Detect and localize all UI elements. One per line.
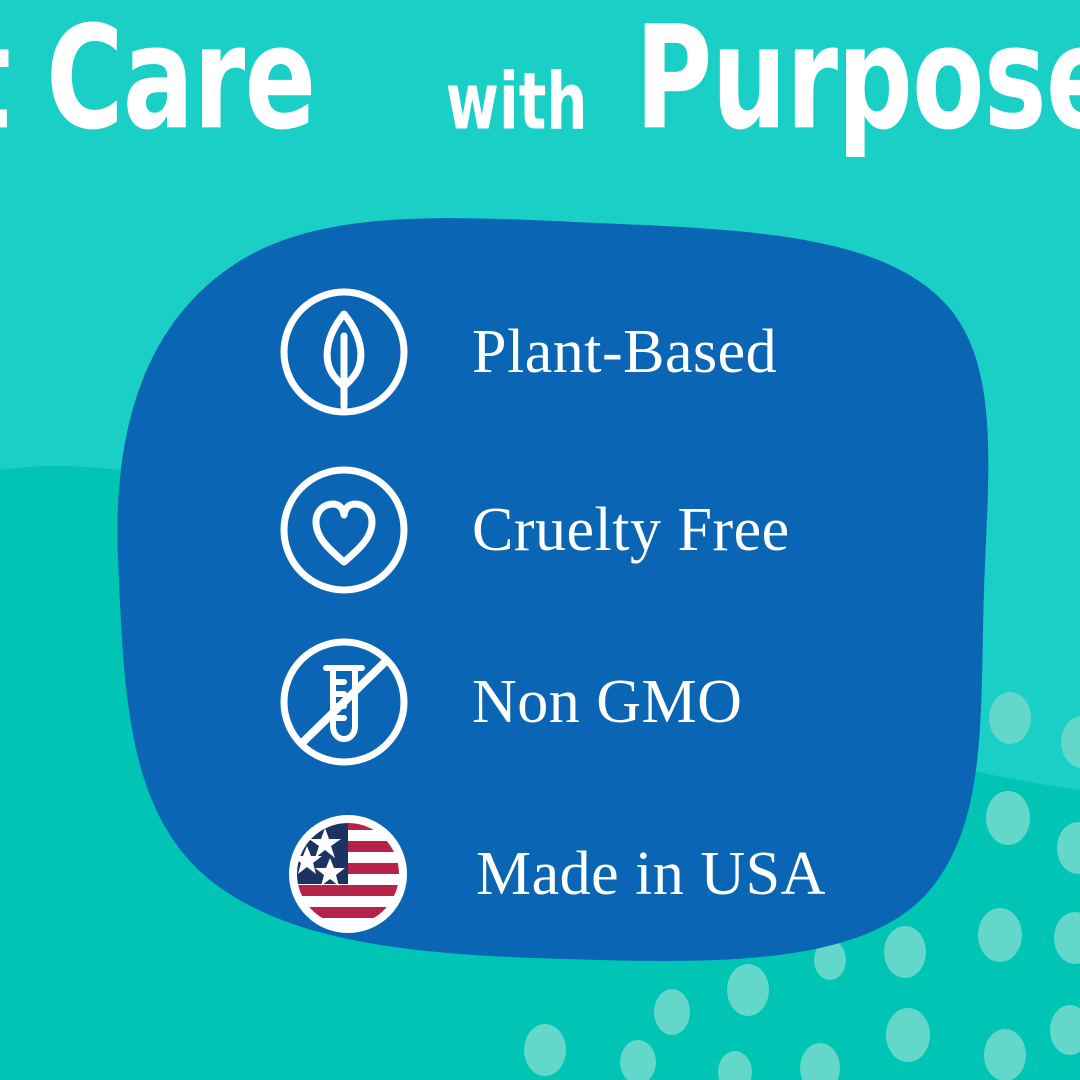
feature-row-non-gmo: Non GMO: [276, 634, 742, 770]
page-title: Pet Care with Purpose ®: [0, 18, 1080, 150]
leaf-in-circle-icon: [276, 284, 412, 420]
no-test-tube-icon: [276, 634, 412, 770]
usa-flag-circle-icon: [280, 806, 416, 942]
feature-label-cruelty-free: Cruelty Free: [472, 499, 790, 561]
feature-label-plant-based: Plant-Based: [472, 321, 777, 383]
headline-part-pet-care: Pet Care: [0, 7, 315, 150]
pet-care-with-purpose-graphic: Pet Care with Purpose ® Plant-Based Crue…: [0, 0, 1080, 1080]
headline-part-purpose: Purpose: [635, 7, 1080, 150]
headline-container: Pet Care with Purpose ®: [0, 18, 1080, 198]
feature-row-plant-based: Plant-Based: [276, 284, 777, 420]
feature-row-cruelty-free: Cruelty Free: [276, 462, 790, 598]
heart-in-circle-icon: [276, 462, 412, 598]
headline-part-with: with: [441, 63, 592, 141]
feature-label-non-gmo: Non GMO: [472, 671, 742, 733]
feature-label-made-in-usa: Made in USA: [476, 843, 826, 905]
slash-line: [301, 660, 387, 744]
feature-row-made-in-usa: Made in USA: [280, 806, 826, 942]
